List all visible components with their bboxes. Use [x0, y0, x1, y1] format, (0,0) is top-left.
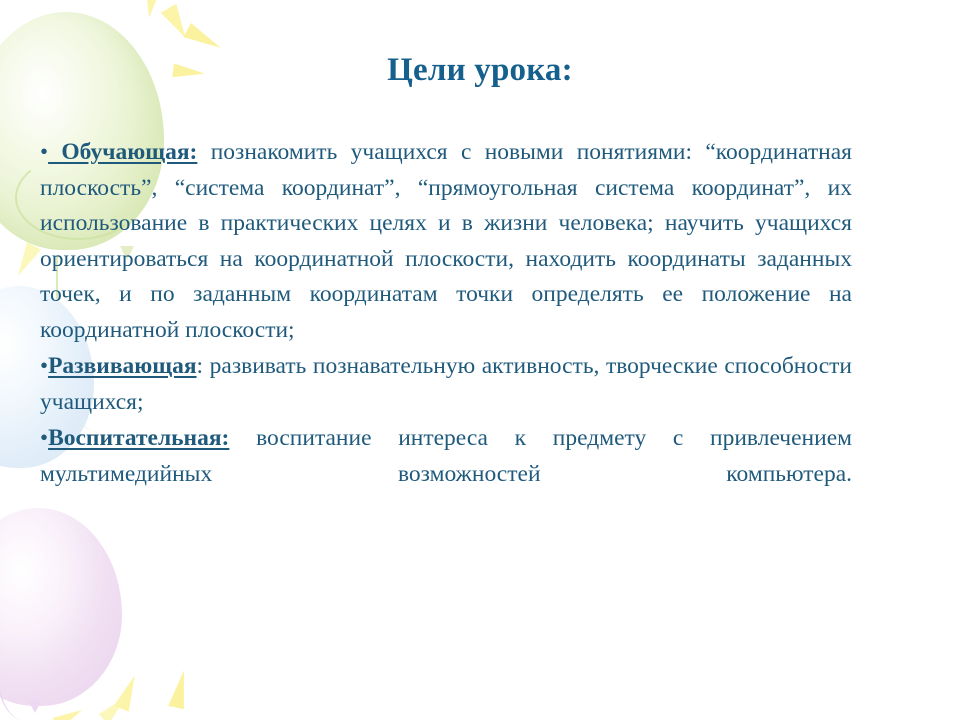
- objectives-list: • Обучающая: познакомить учащихся с новы…: [40, 134, 852, 528]
- ray-icon: [99, 692, 132, 720]
- bullet-marker: •: [40, 425, 48, 450]
- slide-canvas: Цели урока: • Обучающая: познакомить уча…: [0, 0, 960, 720]
- ray-icon: [168, 669, 192, 709]
- ray-icon: [161, 4, 194, 42]
- ray-icon: [11, 242, 41, 280]
- ray-icon: [52, 704, 85, 720]
- bullet-item-upbringing: •Воспитательная: воспитание интереса к п…: [40, 420, 852, 528]
- bullet-item-developing: •Развивающая: развивать познавательную а…: [40, 348, 852, 420]
- ray-icon: [142, 0, 160, 19]
- bullet-keyword-developing: Развивающая: [48, 353, 196, 379]
- pink-balloon-string: [0, 616, 42, 720]
- pink-balloon-knot: [28, 700, 42, 713]
- ray-icon: [114, 672, 142, 711]
- ray-icon: [183, 23, 224, 55]
- pink-balloon: [0, 508, 122, 706]
- slide-title: Цели урока:: [0, 52, 960, 89]
- bullet-keyword-teaching: Обучающая:: [48, 139, 197, 165]
- bullet-marker: •: [40, 139, 48, 164]
- bullet-marker: •: [40, 353, 48, 378]
- bullet-text-teaching: познакомить учащихся с новыми понятиями:…: [40, 139, 852, 343]
- bullet-keyword-upbringing: Воспитательная:: [48, 425, 229, 451]
- bullet-item-teaching: • Обучающая: познакомить учащихся с новы…: [40, 134, 852, 348]
